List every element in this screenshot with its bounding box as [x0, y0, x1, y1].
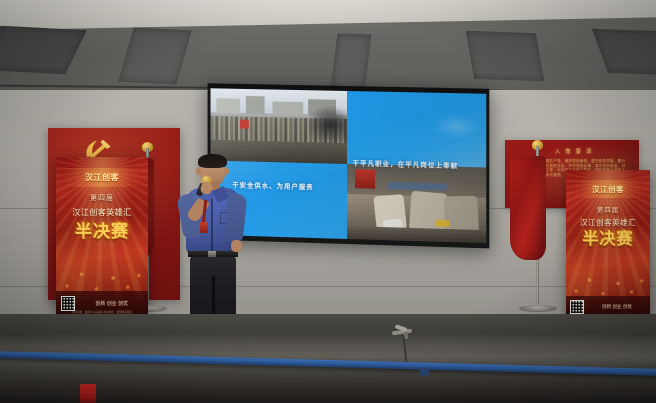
photo-building — [273, 101, 303, 115]
red-cup-object — [80, 384, 96, 403]
presenter-hair — [198, 154, 227, 168]
banner-edition-label: 第四届 — [56, 193, 148, 203]
stage-photo-scene: 入 党 誓 词 我志愿加入中国共产党，拥护党的纲领，遵守党的章程，履行党员义务，… — [0, 0, 656, 403]
banner-event-title: 汉江创客英雄汇 — [56, 207, 148, 218]
ceiling — [0, 0, 656, 96]
ceiling-light-panel — [118, 27, 191, 84]
photo-yellow-tool — [436, 219, 450, 227]
banner-logo: 汉江创客 — [573, 180, 644, 198]
banner-stage-label: 半决赛 — [566, 232, 650, 248]
ceiling-light-panel — [466, 31, 544, 81]
presenter-ear-right — [224, 167, 229, 175]
presenter-badge — [200, 222, 208, 233]
presenter-belt-buckle — [208, 251, 216, 257]
photo-blue-pipe — [388, 182, 446, 191]
slide-highlight — [433, 113, 481, 140]
ceiling-fascia — [0, 0, 656, 30]
rollup-banner-right: 汉江创客 第四届 汉江创客英雄汇 半决赛 创新 创业 创优 主办单位：襄阳市人民… — [566, 170, 650, 318]
rollup-banner-left: 汉江创客 第四届 汉江创客英雄汇 半决赛 创新 创业 创优 主办单位：襄阳市人民… — [56, 157, 148, 315]
slide-blue-panel-top — [347, 89, 486, 168]
photo-ground — [347, 226, 486, 244]
banner-slogan: 创新 创业 创优 — [75, 300, 148, 307]
slide-photo-workers — [347, 164, 486, 243]
presenter-ear-left — [196, 167, 201, 175]
flag-base — [519, 305, 557, 312]
presenter-shirt-placket — [211, 198, 213, 252]
photo-red-accent — [240, 120, 248, 129]
photo-building — [216, 98, 240, 113]
ceiling-light-panel — [331, 33, 372, 90]
qr-code-icon — [570, 300, 584, 314]
presenter-arm-right — [224, 193, 248, 243]
photo-dark-machine — [306, 105, 347, 145]
banner-event-title: 汉江创客英雄汇 — [566, 217, 650, 228]
ceiling-light-panel — [592, 29, 656, 75]
presenter — [174, 152, 252, 334]
ceiling-light-panel — [0, 26, 87, 75]
slide-text-upper: 干平凡职业，在平凡岗位上奉献 — [353, 157, 459, 170]
banner-slogan: 创新 创业 创优 — [584, 304, 650, 310]
photo-red-barrier — [355, 169, 374, 189]
qr-code-icon — [61, 296, 76, 311]
presenter-hand-right — [231, 240, 242, 252]
banner-footer: 创新 创业 创优 主办单位：襄阳市人民政府 承办单位：襄阳市科技局 — [56, 291, 148, 315]
flag-cloth — [510, 156, 546, 260]
red-flag-right — [528, 146, 552, 308]
banner-stage-label: 半决赛 — [56, 223, 148, 240]
cable-clip — [420, 368, 429, 376]
banner-logo: 汉江创客 — [63, 168, 140, 187]
photo-building — [246, 96, 265, 114]
banner-edition-label: 第四届 — [566, 204, 650, 214]
